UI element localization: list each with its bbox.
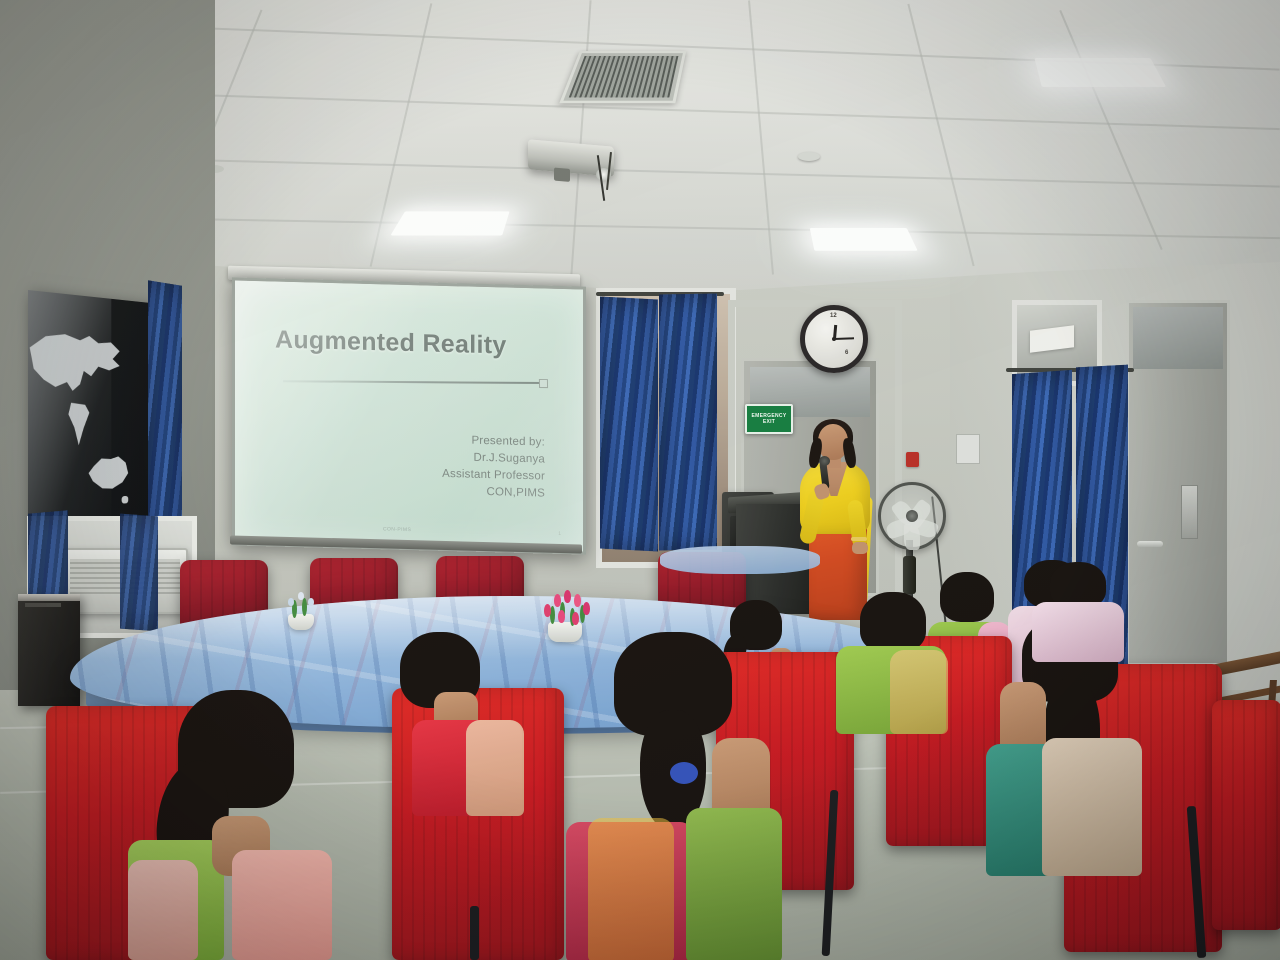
door-push-plate: [1181, 485, 1198, 539]
presenter-bangle: [851, 537, 867, 541]
slide-footer: CON-PIMS: [383, 526, 411, 533]
panel-light-3: [1034, 58, 1166, 87]
fan-hub: [906, 510, 918, 522]
fire-alarm[interactable]: [906, 452, 919, 467]
fan-control-housing: [903, 556, 916, 594]
chair-leg: [470, 906, 479, 960]
wall-switch-box[interactable]: [956, 434, 980, 464]
chair-far-right[interactable]: [1212, 700, 1280, 930]
presenter-right-hand: [852, 542, 868, 554]
clock-numeral: 12: [830, 313, 837, 319]
slide-page-number: 1: [558, 531, 561, 537]
flower-arrangement-left: [282, 588, 322, 634]
door-handle[interactable]: [1137, 541, 1163, 547]
attendee-5: [836, 592, 946, 732]
curtain-window-right: [659, 293, 717, 550]
ac-vent: [559, 51, 686, 103]
screen-glare: [235, 280, 583, 551]
attendee-7: [1032, 562, 1124, 658]
attendee-2: [378, 632, 526, 812]
microphone-head: [819, 456, 830, 466]
attendee-3: [566, 632, 786, 960]
emergency-exit-sign: EMERGENCY EXIT: [745, 404, 793, 434]
curtain-left-1: [148, 280, 182, 555]
panel-light-2: [810, 228, 918, 251]
slide-presenter-block: Presented by: Dr.J.Suganya Assistant Pro…: [335, 429, 545, 502]
curtain-window-left: [600, 296, 658, 551]
presenter: [792, 424, 878, 614]
right-door-window: [1133, 307, 1223, 369]
pedestal-fan: [878, 482, 946, 550]
table-far-edge: [660, 546, 820, 574]
attendee-1: [128, 690, 328, 960]
flower-arrangement-center: [538, 586, 594, 632]
map-island: [122, 496, 129, 504]
clock-center-pin: [832, 337, 836, 341]
slide-divider-line: [283, 380, 545, 384]
seminar-hall-photo: EMERGENCY EXIT 12 6 Augmented Reality Pr…: [0, 0, 1280, 960]
clock-minute-hand: [834, 337, 854, 340]
exit-sign-line-2: EXIT: [763, 419, 775, 425]
slide-title: Augmented Reality: [275, 325, 555, 361]
panel-light-1: [390, 211, 509, 235]
right-door[interactable]: [1126, 300, 1230, 666]
wall-clock: 12 6: [800, 305, 868, 373]
smoke-detector-right: [798, 152, 820, 161]
projection-screen: Augmented Reality Presented by: Dr.J.Sug…: [232, 277, 586, 554]
clock-numeral: 6: [845, 350, 848, 356]
